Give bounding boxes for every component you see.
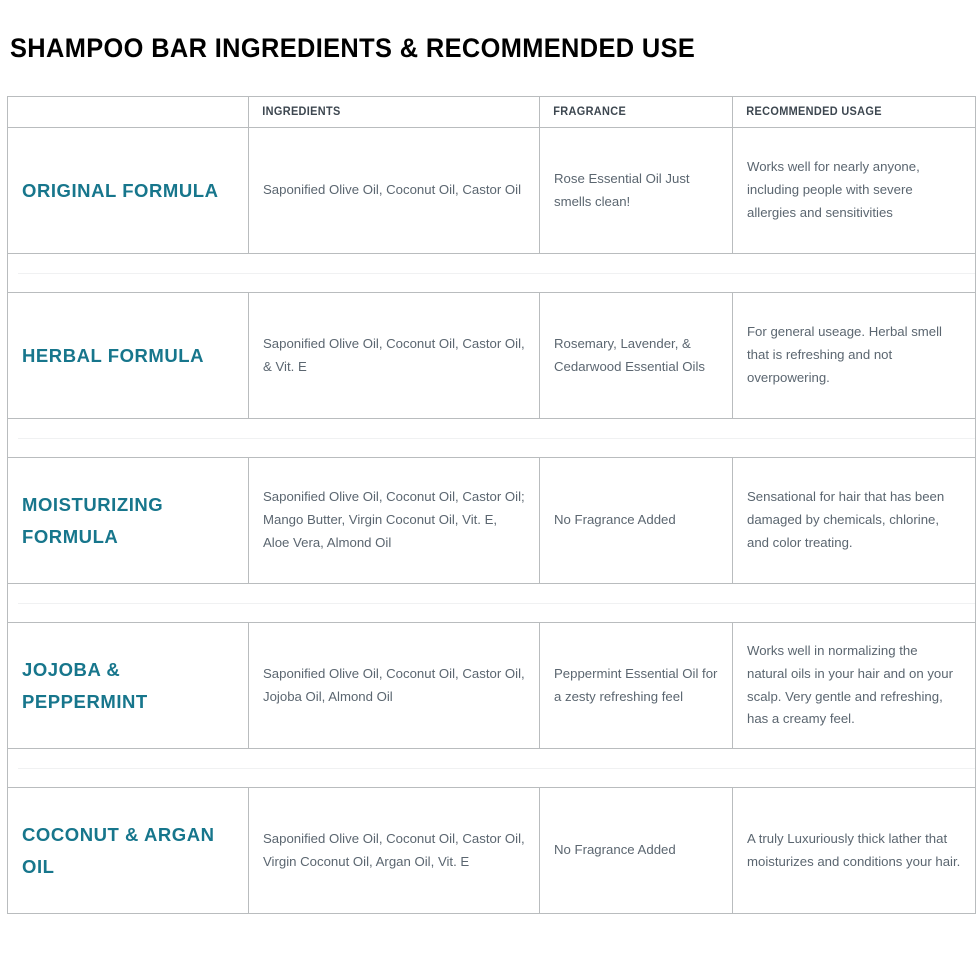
spacer-divider <box>18 603 975 604</box>
table-spacer-row <box>8 749 976 788</box>
formula-name: COCONUT & ARGAN OIL <box>8 819 248 881</box>
spacer-cell <box>8 749 976 788</box>
row-usage-cell: A truly Luxuriously thick lather that mo… <box>733 788 976 914</box>
row-usage-cell: For general useage. Herbal smell that is… <box>733 293 976 419</box>
table-row: COCONUT & ARGAN OIL Saponified Olive Oil… <box>8 788 976 914</box>
row-label-cell: HERBAL FORMULA <box>8 293 249 419</box>
ingredients-text: Saponified Olive Oil, Coconut Oil, Casto… <box>249 828 539 873</box>
row-usage-cell: Works well in normalizing the natural oi… <box>733 623 976 749</box>
row-usage-cell: Sensational for hair that has been damag… <box>733 458 976 584</box>
table-row: MOISTURIZING FORMULA Saponified Olive Oi… <box>8 458 976 584</box>
spacer-divider <box>18 438 975 439</box>
spacer-divider <box>18 768 975 769</box>
row-label-cell: MOISTURIZING FORMULA <box>8 458 249 584</box>
table-spacer-row <box>8 584 976 623</box>
table-spacer-row <box>8 419 976 458</box>
usage-text: Works well in normalizing the natural oi… <box>733 640 975 731</box>
formula-name: JOJOBA & PEPPERMINT <box>8 654 248 716</box>
fragrance-text: No Fragrance Added <box>540 839 732 862</box>
row-ingredients-cell: Saponified Olive Oil, Coconut Oil, Casto… <box>249 293 540 419</box>
row-fragrance-cell: No Fragrance Added <box>540 788 733 914</box>
row-fragrance-cell: No Fragrance Added <box>540 458 733 584</box>
row-fragrance-cell: Rose Essential Oil Just smells clean! <box>540 128 733 254</box>
fragrance-text: Rose Essential Oil Just smells clean! <box>540 168 732 213</box>
table-spacer-row <box>8 254 976 293</box>
formula-name: ORIGINAL FORMULA <box>8 175 248 206</box>
ingredients-table-wrapper: INGREDIENTS FRAGRANCE RECOMMENDED USAGE … <box>7 96 975 914</box>
usage-text: Works well for nearly anyone, including … <box>733 156 975 224</box>
ingredients-text: Saponified Olive Oil, Coconut Oil, Casto… <box>249 486 539 554</box>
page-root: SHAMPOO BAR INGREDIENTS & RECOMMENDED US… <box>0 0 980 980</box>
row-ingredients-cell: Saponified Olive Oil, Coconut Oil, Casto… <box>249 623 540 749</box>
row-ingredients-cell: Saponified Olive Oil, Coconut Oil, Casto… <box>249 128 540 254</box>
fragrance-text: Peppermint Essential Oil for a zesty ref… <box>540 663 732 708</box>
ingredients-table: INGREDIENTS FRAGRANCE RECOMMENDED USAGE … <box>7 96 976 914</box>
row-label-cell: COCONUT & ARGAN OIL <box>8 788 249 914</box>
formula-name: MOISTURIZING FORMULA <box>8 489 248 551</box>
formula-name: HERBAL FORMULA <box>8 340 248 371</box>
row-fragrance-cell: Rosemary, Lavender, & Cedarwood Essentia… <box>540 293 733 419</box>
table-row: HERBAL FORMULA Saponified Olive Oil, Coc… <box>8 293 976 419</box>
usage-text: For general useage. Herbal smell that is… <box>733 321 975 389</box>
table-row: ORIGINAL FORMULA Saponified Olive Oil, C… <box>8 128 976 254</box>
page-title: SHAMPOO BAR INGREDIENTS & RECOMMENDED US… <box>10 33 695 64</box>
ingredients-text: Saponified Olive Oil, Coconut Oil, Casto… <box>249 179 539 202</box>
column-header-ingredients: INGREDIENTS <box>249 97 540 128</box>
column-header-usage: RECOMMENDED USAGE <box>733 97 976 128</box>
usage-text: Sensational for hair that has been damag… <box>733 486 975 554</box>
column-header-formula <box>8 97 249 128</box>
fragrance-text: Rosemary, Lavender, & Cedarwood Essentia… <box>540 333 732 378</box>
table-header: INGREDIENTS FRAGRANCE RECOMMENDED USAGE <box>8 97 976 128</box>
table-header-row: INGREDIENTS FRAGRANCE RECOMMENDED USAGE <box>8 97 976 128</box>
spacer-cell <box>8 419 976 458</box>
table-body: ORIGINAL FORMULA Saponified Olive Oil, C… <box>8 128 976 914</box>
row-usage-cell: Works well for nearly anyone, including … <box>733 128 976 254</box>
row-ingredients-cell: Saponified Olive Oil, Coconut Oil, Casto… <box>249 458 540 584</box>
column-header-fragrance: FRAGRANCE <box>540 97 733 128</box>
row-fragrance-cell: Peppermint Essential Oil for a zesty ref… <box>540 623 733 749</box>
ingredients-text: Saponified Olive Oil, Coconut Oil, Casto… <box>249 333 539 378</box>
row-label-cell: ORIGINAL FORMULA <box>8 128 249 254</box>
spacer-divider <box>18 273 975 274</box>
spacer-cell <box>8 254 976 293</box>
fragrance-text: No Fragrance Added <box>540 509 732 532</box>
spacer-cell <box>8 584 976 623</box>
row-label-cell: JOJOBA & PEPPERMINT <box>8 623 249 749</box>
table-row: JOJOBA & PEPPERMINT Saponified Olive Oil… <box>8 623 976 749</box>
ingredients-text: Saponified Olive Oil, Coconut Oil, Casto… <box>249 663 539 708</box>
usage-text: A truly Luxuriously thick lather that mo… <box>733 828 975 873</box>
row-ingredients-cell: Saponified Olive Oil, Coconut Oil, Casto… <box>249 788 540 914</box>
